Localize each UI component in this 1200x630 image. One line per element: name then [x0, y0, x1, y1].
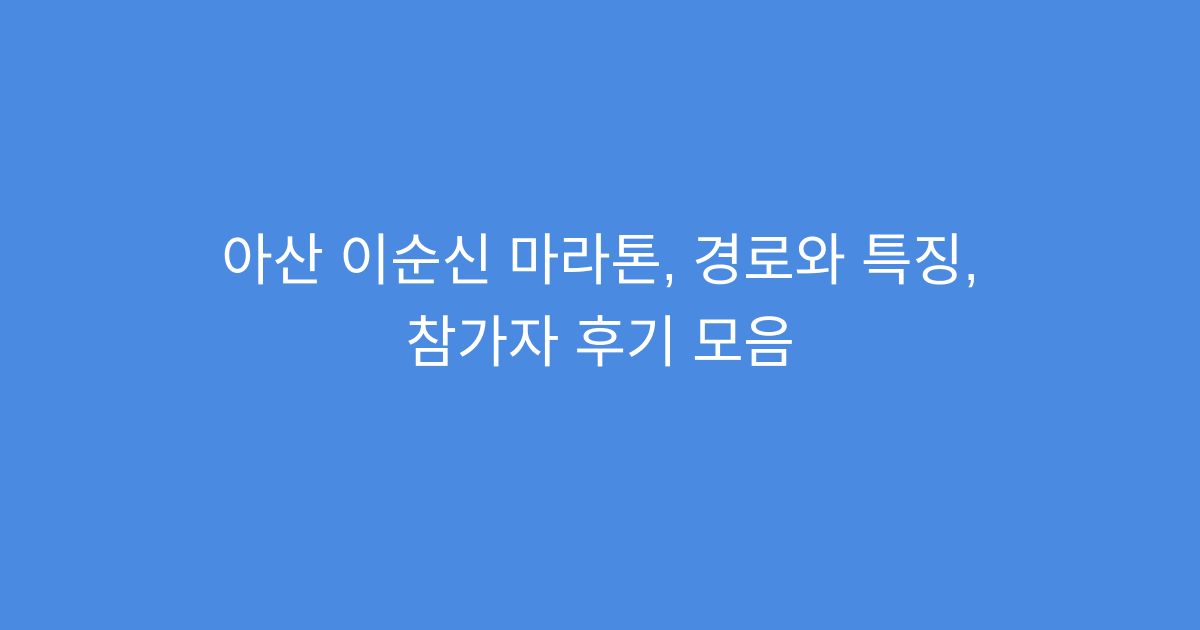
og-image-card: 아산 이순신 마라톤, 경로와 특징, 참가자 후기 모음	[0, 0, 1200, 630]
page-title-line-2: 참가자 후기 모음	[90, 302, 1110, 384]
page-title: 아산 이순신 마라톤, 경로와 특징, 참가자 후기 모음	[70, 220, 1130, 384]
page-title-line-1: 아산 이순신 마라톤, 경로와 특징,	[90, 220, 1110, 302]
